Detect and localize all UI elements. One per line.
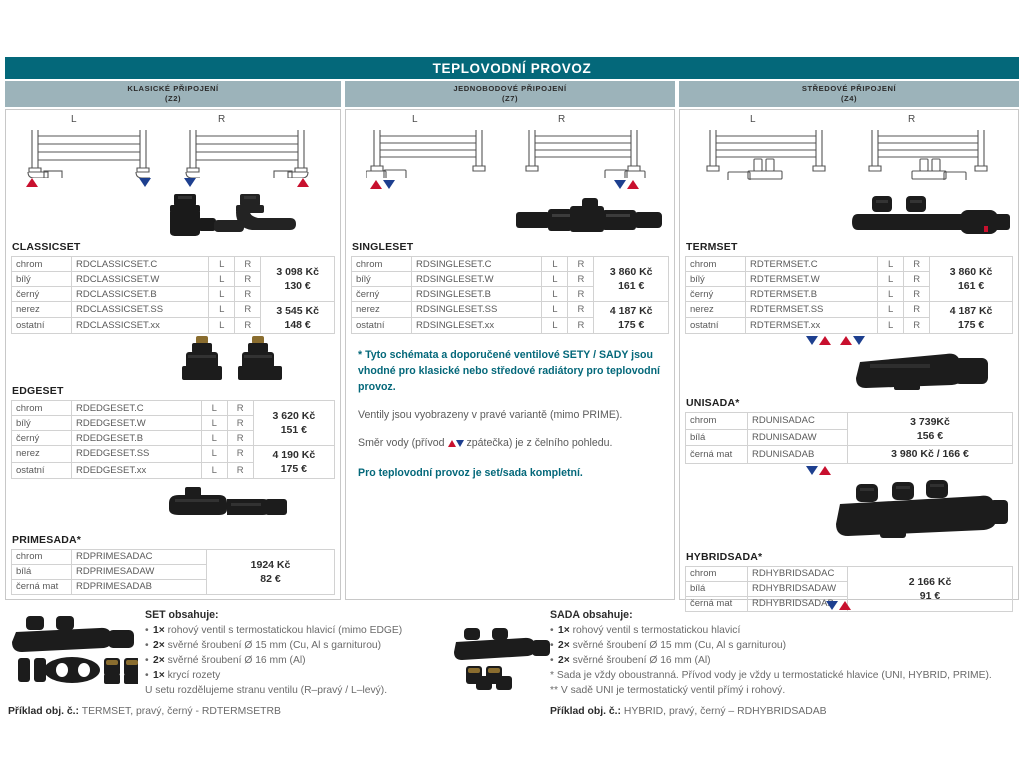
finish-name: bílá: [686, 429, 748, 445]
list-item: 2× svěrné šroubení Ø 16 mm (Al): [550, 654, 1024, 669]
note-text-3-before: Směr vody (přívod: [358, 437, 448, 449]
flow-supply-marker: [840, 336, 852, 345]
column-header-classic: KLASICKÉ PŘIPOJENÍ (Z2): [5, 81, 341, 107]
example-label: Příklad obj. č.:: [550, 706, 621, 717]
finish-name: ostatní: [352, 318, 412, 334]
product-photo-singleset: [516, 198, 666, 245]
column-header-title: JEDNOBODOVÉ PŘIPOJENÍ: [453, 84, 566, 94]
price-czk: 4 187 Kč: [934, 304, 1008, 318]
schematic-label-right: R: [558, 114, 565, 125]
table-row: chrom RDHYBRIDSADAC 2 166 Kč 91 €: [686, 566, 1013, 581]
price-eur: 161 €: [598, 279, 664, 293]
price-cell: 3 620 Kč 151 €: [253, 401, 334, 446]
item-qty: 2×: [558, 655, 570, 666]
radiator-diagram-right: [182, 128, 312, 178]
product-code: RDUNISADAC: [748, 413, 848, 429]
product-photo-edgeset: [156, 336, 306, 387]
flow-return-marker: [139, 178, 151, 187]
side-right: R: [235, 287, 261, 302]
product-code: RDCLASSICSET.B: [72, 287, 209, 302]
finish-name: chrom: [12, 549, 72, 564]
item-text: rohový ventil s termostatickou hlavicí: [573, 625, 741, 636]
product-code: RDSINGLESET.C: [412, 257, 542, 272]
flow-supply-marker: [627, 180, 639, 189]
product-photo-classicset: [154, 192, 304, 238]
price-table-primesada: chrom RDPRIMESADAC 1924 Kč 82 € bílá RDP…: [11, 549, 335, 595]
note-text-3-after: zpátečka) je z čelního pohledu.: [464, 437, 613, 449]
side-right: R: [568, 257, 594, 272]
side-left: L: [209, 272, 235, 287]
finish-name: černý: [12, 287, 72, 302]
product-code: RDUNISADAB: [748, 445, 848, 463]
side-left: L: [542, 257, 568, 272]
radiator-diagram-left: [24, 128, 154, 178]
column-header-center: STŘEDOVÉ PŘIPOJENÍ (Z4): [679, 81, 1019, 107]
table-title-classicset: CLASSICSET: [6, 238, 340, 256]
column-header-row: KLASICKÉ PŘIPOJENÍ (Z2) JEDNOBODOVÉ PŘIP…: [5, 81, 1019, 107]
product-code: RDHYBRIDSADAW: [748, 581, 848, 596]
note-line-4: Pro teplovodní provoz je set/sada komple…: [358, 466, 662, 482]
side-right: R: [227, 416, 253, 431]
footer-sada-note-1: * Sada je vždy oboustranná. Přívod vody …: [550, 669, 1024, 684]
product-photo-primesada: [161, 485, 301, 534]
finish-name: bílý: [12, 272, 72, 287]
note-line-3: Směr vody (přívod zpátečka) je z čelního…: [358, 436, 662, 452]
schematic-label-left: L: [412, 114, 418, 125]
side-left: L: [542, 302, 568, 318]
table-row: nerez RDSINGLESET.SS L R 4 187 Kč 175 €: [352, 302, 669, 318]
price-table-singleset: chrom RDSINGLESET.C L R 3 860 Kč 161 € b…: [351, 256, 669, 334]
table-row: černá mat RDUNISADAB 3 980 Kč / 166 €: [686, 445, 1013, 463]
footer-set-title: SET obsahuje:: [145, 608, 535, 623]
side-right: R: [227, 431, 253, 446]
column-header-code: (Z4): [841, 94, 857, 104]
price-eur: 175 €: [258, 462, 330, 476]
price-cell: 4 190 Kč 175 €: [253, 446, 334, 478]
side-right: R: [904, 272, 930, 287]
product-code: RDPRIMESADAW: [72, 564, 207, 579]
finish-name: bílý: [686, 272, 746, 287]
column-header-title: STŘEDOVÉ PŘIPOJENÍ: [802, 84, 896, 94]
side-right: R: [904, 302, 930, 318]
column-center: L R: [679, 109, 1019, 600]
footer-photo-set: [8, 614, 138, 691]
price-czk: 4 190 Kč: [258, 448, 330, 462]
schematic-label-left: L: [71, 114, 77, 125]
finish-name: nerez: [686, 302, 746, 318]
item-qty: 2×: [558, 640, 570, 651]
price-cell: 3 098 Kč 130 €: [261, 257, 335, 302]
schematic-label-left: L: [750, 114, 756, 125]
side-left: L: [878, 287, 904, 302]
finish-name: bílý: [12, 416, 72, 431]
supply-triangle-icon: [448, 440, 456, 447]
item-qty: 1×: [153, 625, 165, 636]
price-eur: 130 €: [265, 279, 330, 293]
schematic-classic: L R: [6, 110, 340, 238]
finish-name: chrom: [686, 257, 746, 272]
table-row: chrom RDUNISADAC 3 739Kč 156 €: [686, 413, 1013, 429]
side-right: R: [904, 318, 930, 334]
finish-name: bílá: [686, 581, 748, 596]
note-line-2: Ventily jsou vyobrazeny v pravé variantě…: [358, 408, 662, 424]
item-text: svěrné šroubení Ø 15 mm (Cu, Al s garnit…: [573, 640, 786, 651]
product-code: RDHYBRIDSADAC: [748, 566, 848, 581]
flow-supply-marker: [819, 336, 831, 345]
side-right: R: [568, 272, 594, 287]
table-row: nerez RDCLASSICSET.SS L R 3 545 Kč 148 €: [12, 302, 335, 318]
schematic-single: L R: [346, 110, 674, 238]
footer-sada-note-2: ** V sadě UNI je termostatický ventil př…: [550, 684, 1024, 699]
product-photo-hybridsada: [830, 478, 1010, 547]
product-code: RDEDGESET.C: [72, 401, 202, 416]
side-right: R: [568, 318, 594, 334]
example-value: TERMSET, pravý, černý - RDTERMSETRB: [82, 706, 281, 717]
side-left: L: [201, 431, 227, 446]
finish-name: chrom: [12, 257, 72, 272]
item-text: rohový ventil s termostatickou hlavicí (…: [168, 625, 403, 636]
product-code: RDCLASSICSET.C: [72, 257, 209, 272]
product-code: RDCLASSICSET.SS: [72, 302, 209, 318]
product-code: RDEDGESET.xx: [72, 462, 202, 478]
product-code: RDPRIMESADAC: [72, 549, 207, 564]
side-left: L: [878, 272, 904, 287]
side-right: R: [904, 257, 930, 272]
footer-sada-example: Příklad obj. č.: HYBRID, pravý, černý – …: [550, 706, 827, 717]
finish-name: černý: [686, 287, 746, 302]
finish-name: bílá: [12, 564, 72, 579]
price-cell: 3 860 Kč 161 €: [594, 257, 669, 302]
footer: SET obsahuje: 1× rohový ventil s termost…: [0, 604, 1024, 754]
side-right: R: [227, 401, 253, 416]
radiator-diagram-right: [864, 128, 994, 180]
finish-name: černý: [12, 431, 72, 446]
item-qty: 2×: [153, 640, 165, 651]
side-left: L: [542, 272, 568, 287]
flow-supply-marker: [370, 180, 382, 189]
finish-name: ostatní: [12, 462, 72, 478]
footer-sada-list: 1× rohový ventil s termostatickou hlavic…: [550, 624, 1024, 669]
item-text: svěrné šroubení Ø 15 mm (Cu, Al s garnit…: [168, 640, 381, 651]
table-row: nerez RDEDGESET.SS L R 4 190 Kč 175 €: [12, 446, 335, 462]
finish-name: chrom: [686, 566, 748, 581]
price-cell: 4 187 Kč 175 €: [594, 302, 669, 334]
column-header-title: KLASICKÉ PŘIPOJENÍ: [127, 84, 218, 94]
finish-name: chrom: [352, 257, 412, 272]
finish-name: chrom: [12, 401, 72, 416]
side-right: R: [235, 318, 261, 334]
product-code: RDTERMSET.B: [746, 287, 878, 302]
side-right: R: [235, 257, 261, 272]
radiator-diagram-right: [521, 128, 646, 178]
product-code: RDEDGESET.W: [72, 416, 202, 431]
item-qty: 2×: [153, 655, 165, 666]
item-text: svěrné šroubení Ø 16 mm (Al): [573, 655, 711, 666]
price-eur: 82 €: [211, 572, 330, 586]
product-photo-unisada: [850, 348, 990, 397]
product-code: RDEDGESET.SS: [72, 446, 202, 462]
table-row: chrom RDPRIMESADAC 1924 Kč 82 €: [12, 549, 335, 564]
price-cell: 3 739Kč 156 €: [848, 413, 1013, 445]
side-left: L: [201, 446, 227, 462]
price-eur: 156 €: [852, 429, 1008, 443]
side-left: L: [209, 318, 235, 334]
radiator-diagram-left: [366, 128, 491, 178]
list-item: 1× rohový ventil s termostatickou hlavic…: [550, 624, 1024, 639]
price-czk: 3 860 Kč: [934, 265, 1008, 279]
product-code: RDEDGESET.B: [72, 431, 202, 446]
side-right: R: [227, 446, 253, 462]
photo-area-hybridsada: [680, 464, 1018, 548]
product-code: RDTERMSET.W: [746, 272, 878, 287]
flow-return-marker: [383, 180, 395, 189]
page-title: TEPLOVODNÍ PROVOZ: [5, 57, 1019, 79]
price-eur: 175 €: [934, 318, 1008, 332]
price-cell: 4 187 Kč 175 €: [930, 302, 1013, 334]
table-title-hybridsada: HYBRIDSADA*: [680, 548, 1018, 566]
product-code: RDPRIMESADAB: [72, 579, 207, 594]
price-czk: 3 098 Kč: [265, 265, 330, 279]
product-photo-termset: [852, 196, 1012, 245]
side-right: R: [235, 272, 261, 287]
price-czk: 3 739Kč: [852, 415, 1008, 429]
column-single: L R: [345, 109, 675, 600]
side-left: L: [201, 401, 227, 416]
product-code: RDTERMSET.xx: [746, 318, 878, 334]
product-code: RDSINGLESET.xx: [412, 318, 542, 334]
finish-name: černý: [352, 287, 412, 302]
side-left: L: [878, 257, 904, 272]
finish-name: nerez: [12, 302, 72, 318]
list-item: 2× svěrné šroubení Ø 15 mm (Cu, Al s gar…: [550, 639, 1024, 654]
side-left: L: [209, 257, 235, 272]
photo-area-unisada: [680, 334, 1018, 394]
product-code: RDSINGLESET.W: [412, 272, 542, 287]
side-left: L: [542, 287, 568, 302]
price-cell: 1924 Kč 82 €: [207, 549, 335, 594]
price-cell: 3 860 Kč 161 €: [930, 257, 1013, 302]
table-row: chrom RDEDGESET.C L R 3 620 Kč 151 €: [12, 401, 335, 416]
side-left: L: [201, 416, 227, 431]
price-eur: 91 €: [852, 589, 1008, 603]
side-left: L: [878, 302, 904, 318]
product-code: RDSINGLESET.SS: [412, 302, 542, 318]
price-eur: 161 €: [934, 279, 1008, 293]
catalog-sheet: TEPLOVODNÍ PROVOZ KLASICKÉ PŘIPOJENÍ (Z2…: [0, 0, 1024, 768]
table-row: chrom RDSINGLESET.C L R 3 860 Kč 161 €: [352, 257, 669, 272]
price-eur: 175 €: [598, 318, 664, 332]
flow-return-marker: [806, 466, 818, 475]
item-text: krycí rozety: [168, 670, 221, 681]
price-cell: 3 980 Kč / 166 €: [848, 445, 1013, 463]
flow-return-marker: [184, 178, 196, 187]
side-right: R: [227, 462, 253, 478]
item-qty: 1×: [558, 625, 570, 636]
schematic-label-right: R: [218, 114, 225, 125]
side-right: R: [904, 287, 930, 302]
photo-area-edgeset: [6, 334, 340, 382]
price-czk: 3 860 Kč: [598, 265, 664, 279]
photo-area-primesada: [6, 479, 340, 531]
table-row: chrom RDCLASSICSET.C L R 3 098 Kč 130 €: [12, 257, 335, 272]
finish-name: bílý: [352, 272, 412, 287]
finish-name: černá mat: [686, 445, 748, 463]
item-text: svěrné šroubení Ø 16 mm (Al): [168, 655, 306, 666]
price-table-classicset: chrom RDCLASSICSET.C L R 3 098 Kč 130 € …: [11, 256, 335, 334]
price-czk: 2 166 Kč: [852, 575, 1008, 589]
note-line-1: * Tyto schémata a doporučené ventilové S…: [358, 348, 662, 396]
price-table-termset: chrom RDTERMSET.C L R 3 860 Kč 161 € bíl…: [685, 256, 1013, 334]
side-right: R: [235, 302, 261, 318]
price-table-unisada: chrom RDUNISADAC 3 739Kč 156 € bílá RDUN…: [685, 412, 1013, 464]
flow-return-marker: [614, 180, 626, 189]
schematic-label-right: R: [908, 114, 915, 125]
price-czk: 3 545 Kč: [265, 304, 330, 318]
product-code: RDTERMSET.C: [746, 257, 878, 272]
product-code: RDSINGLESET.B: [412, 287, 542, 302]
note-text-1: Tyto schémata a doporučené ventilové SET…: [358, 349, 660, 393]
schematic-center: L R: [680, 110, 1018, 238]
price-cell: 3 545 Kč 148 €: [261, 302, 335, 334]
price-table-edgeset: chrom RDEDGESET.C L R 3 620 Kč 151 € bíl…: [11, 400, 335, 478]
flow-return-marker: [853, 336, 865, 345]
footer-sada-column: SADA obsahuje: 1× rohový ventil s termos…: [550, 608, 1024, 699]
column-header-code: (Z2): [165, 94, 181, 104]
side-right: R: [568, 287, 594, 302]
flow-supply-marker: [26, 178, 38, 187]
product-code: RDCLASSICSET.xx: [72, 318, 209, 334]
footer-sada-title: SADA obsahuje:: [550, 608, 1024, 623]
product-code: RDCLASSICSET.W: [72, 272, 209, 287]
price-eur: 148 €: [265, 318, 330, 332]
side-left: L: [209, 287, 235, 302]
price-czk: 4 187 Kč: [598, 304, 664, 318]
footer-set-example: Příklad obj. č.: TERMSET, pravý, černý -…: [8, 706, 281, 717]
note-star-marker: *: [358, 349, 362, 361]
column-header-code: (Z7): [502, 94, 518, 104]
example-value: HYBRID, pravý, černý – RDHYBRIDSADAB: [624, 706, 827, 717]
flow-supply-marker: [819, 466, 831, 475]
table-row: nerez RDTERMSET.SS L R 4 187 Kč 175 €: [686, 302, 1013, 318]
price-eur: 151 €: [258, 423, 330, 437]
price-czk: 1924 Kč: [211, 558, 330, 572]
side-left: L: [209, 302, 235, 318]
finish-name: nerez: [12, 446, 72, 462]
example-label: Příklad obj. č.:: [8, 706, 79, 717]
finish-name: chrom: [686, 413, 748, 429]
item-qty: 1×: [153, 670, 165, 681]
product-code: RDUNISADAW: [748, 429, 848, 445]
product-code: RDTERMSET.SS: [746, 302, 878, 318]
return-triangle-icon: [456, 440, 464, 447]
side-left: L: [201, 462, 227, 478]
flow-return-marker: [806, 336, 818, 345]
price-czk: 3 620 Kč: [258, 409, 330, 423]
table-row: chrom RDTERMSET.C L R 3 860 Kč 161 €: [686, 257, 1013, 272]
finish-name: ostatní: [12, 318, 72, 334]
radiator-diagram-left: [702, 128, 832, 180]
footer-photo-sada: [452, 628, 552, 695]
finish-name: ostatní: [686, 318, 746, 334]
side-left: L: [878, 318, 904, 334]
flow-supply-marker: [297, 178, 309, 187]
side-right: R: [568, 302, 594, 318]
finish-name: nerez: [352, 302, 412, 318]
notes-block: * Tyto schémata a doporučené ventilové S…: [346, 334, 674, 481]
finish-name: černá mat: [12, 579, 72, 594]
side-left: L: [542, 318, 568, 334]
column-header-single: JEDNOBODOVÉ PŘIPOJENÍ (Z7): [345, 81, 675, 107]
column-classic: L R: [5, 109, 341, 600]
